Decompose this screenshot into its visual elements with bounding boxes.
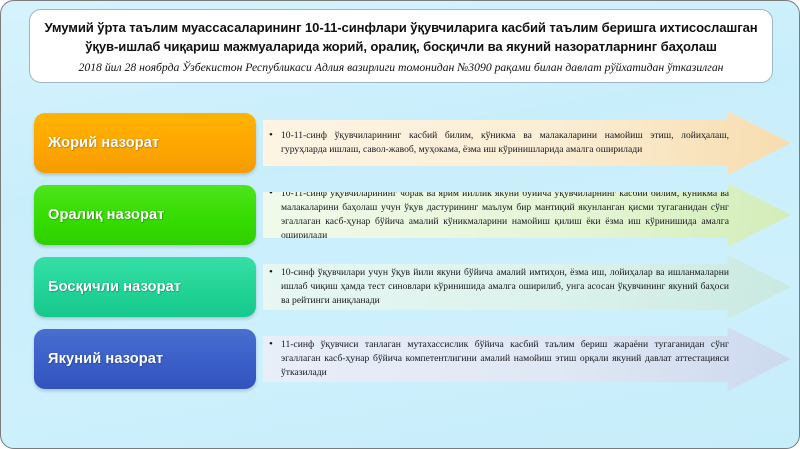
title-line-2: ўқув-ишлаб чиқариш мажмуаларида жорий, о… xyxy=(44,38,758,57)
list-item: Оралиқ назорат 10-11-синф ўқувчиларининг… xyxy=(1,181,800,249)
control-types-list: Жорий назорат 10-11-синф ўқувчиларининг … xyxy=(1,109,800,397)
slide-canvas: Умумий ўрта таълим муассасаларининг 10-1… xyxy=(0,0,800,449)
control-type-description: 10-11-синф ўқувчиларининг касбий билим, … xyxy=(263,129,791,157)
control-type-description: 11-синф ўқувчиси танлаган мутахассислик … xyxy=(263,338,791,380)
subtitle-prefix: 2018 йил 28 ноябрда Ўзбекистон Республик… xyxy=(79,61,315,74)
list-item: Жорий назорат 10-11-синф ўқувчиларининг … xyxy=(1,109,800,177)
subtitle-registration-note: Адлия вазирлиги томонидан №3090 рақами б… xyxy=(315,61,724,74)
control-type-label: Оралиқ назорат xyxy=(34,207,164,223)
control-type-description-arrow-bosqichli: 10-синф ўқувчилари учун ўқув йили якуни … xyxy=(263,255,791,319)
list-item: Босқичли назорат 10-синф ўқувчилари учун… xyxy=(1,253,800,321)
subtitle: 2018 йил 28 ноябрда Ўзбекистон Республик… xyxy=(44,58,758,76)
control-type-pill-joriy[interactable]: Жорий назорат xyxy=(34,113,256,173)
control-type-description: 10-11-синф ўқувчиларининг чорак ва ярим … xyxy=(263,187,791,243)
control-type-pill-yakuniy[interactable]: Якуний назорат xyxy=(34,329,256,389)
control-type-description-arrow-yakuniy: 11-синф ўқувчиси танлаган мутахассислик … xyxy=(263,327,791,391)
list-item: Якуний назорат 11-синф ўқувчиси танлаган… xyxy=(1,325,800,393)
control-type-pill-bosqichli[interactable]: Босқичли назорат xyxy=(34,257,256,317)
control-type-pill-oraliq[interactable]: Оралиқ назорат xyxy=(34,185,256,245)
control-type-description: 10-синф ўқувчилари учун ўқув йили якуни … xyxy=(263,266,791,308)
control-type-label: Босқичли назорат xyxy=(34,279,181,295)
control-type-description-arrow-joriy: 10-11-синф ўқувчиларининг касбий билим, … xyxy=(263,111,791,175)
title-card: Умумий ўрта таълим муассасаларининг 10-1… xyxy=(29,9,773,83)
title-line-1: Умумий ўрта таълим муассасаларининг 10-1… xyxy=(44,19,758,38)
control-type-description-arrow-oraliq: 10-11-синф ўқувчиларининг чорак ва ярим … xyxy=(263,183,791,247)
control-type-label: Жорий назорат xyxy=(34,135,159,151)
control-type-label: Якуний назорат xyxy=(34,351,163,367)
